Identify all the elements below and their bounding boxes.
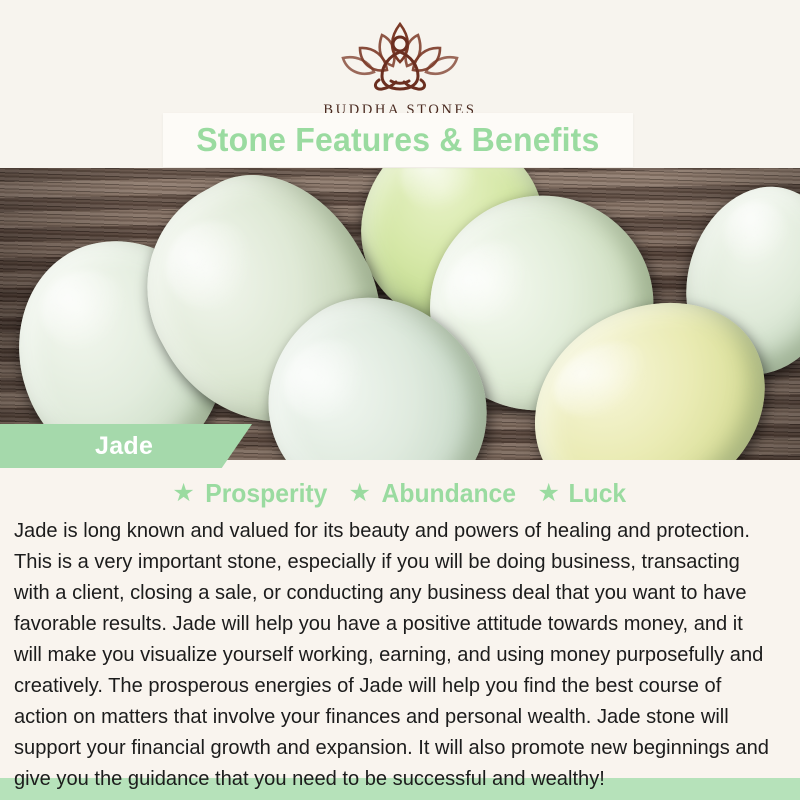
lotus-meditation-figure-icon (327, 18, 473, 100)
benefit-label: Prosperity (205, 478, 327, 509)
infographic-page: BUDDHA STONES Stone Features & Benefits … (0, 0, 800, 800)
stone-name-label: Jade (95, 432, 153, 461)
benefit-item: ★ Luck (537, 478, 627, 509)
star-icon: ★ (172, 481, 194, 506)
hero-photo (0, 168, 800, 460)
page-title-card: Stone Features & Benefits (163, 113, 633, 167)
stone-name-banner: Jade (0, 424, 252, 468)
star-icon: ★ (537, 481, 559, 506)
benefit-label: Luck (568, 478, 626, 509)
brand-logo: BUDDHA STONES (0, 18, 800, 119)
benefit-item: ★ Abundance (348, 478, 519, 509)
stone-description: Jade is long known and valued for its be… (14, 515, 771, 794)
benefit-label: Abundance (381, 478, 515, 509)
benefit-item: ★ Prosperity (172, 478, 330, 509)
page-title: Stone Features & Benefits (196, 121, 599, 159)
content-section: ★ Prosperity ★ Abundance ★ Luck Jade is … (0, 460, 800, 778)
star-icon: ★ (348, 481, 370, 506)
